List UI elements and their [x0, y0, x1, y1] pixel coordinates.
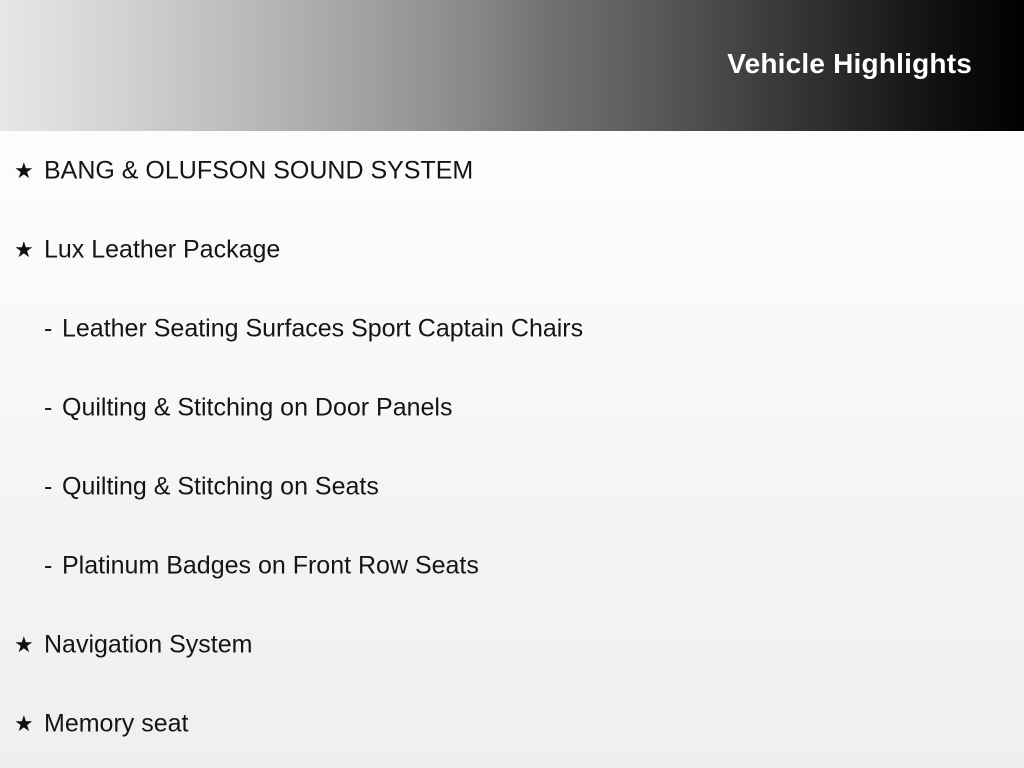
- list-item-label: Quilting & Stitching on Seats: [62, 472, 379, 501]
- highlights-list: ★ BANG & OLUFSON SOUND SYSTEM ★ Lux Leat…: [0, 131, 1024, 763]
- star-bullet-icon: ★: [14, 713, 34, 735]
- list-item: ★ Memory seat: [0, 684, 1024, 763]
- list-item-label: Lux Leather Package: [44, 235, 280, 264]
- list-item-label: Memory seat: [44, 709, 188, 738]
- list-item-label: Navigation System: [44, 630, 252, 659]
- list-item-label: BANG & OLUFSON SOUND SYSTEM: [44, 156, 473, 185]
- dash-bullet-icon: -: [44, 314, 52, 343]
- header-band: Vehicle Highlights: [0, 0, 1024, 131]
- list-item-sub: - Leather Seating Surfaces Sport Captain…: [0, 289, 1024, 368]
- star-bullet-icon: ★: [14, 160, 34, 182]
- list-item-label: Quilting & Stitching on Door Panels: [62, 393, 453, 422]
- list-item: ★ Lux Leather Package: [0, 210, 1024, 289]
- star-bullet-icon: ★: [14, 634, 34, 656]
- page-title: Vehicle Highlights: [727, 50, 972, 78]
- list-item-label: Platinum Badges on Front Row Seats: [62, 551, 479, 580]
- list-item-sub: - Quilting & Stitching on Seats: [0, 447, 1024, 526]
- dash-bullet-icon: -: [44, 472, 52, 501]
- list-item-sub: - Platinum Badges on Front Row Seats: [0, 526, 1024, 605]
- star-bullet-icon: ★: [14, 239, 34, 261]
- vehicle-highlights-slide: Vehicle Highlights ★ BANG & OLUFSON SOUN…: [0, 0, 1024, 768]
- list-item: ★ BANG & OLUFSON SOUND SYSTEM: [0, 131, 1024, 210]
- list-item-sub: - Quilting & Stitching on Door Panels: [0, 368, 1024, 447]
- dash-bullet-icon: -: [44, 551, 52, 580]
- list-item-label: Leather Seating Surfaces Sport Captain C…: [62, 314, 583, 343]
- list-item: ★ Navigation System: [0, 605, 1024, 684]
- dash-bullet-icon: -: [44, 393, 52, 422]
